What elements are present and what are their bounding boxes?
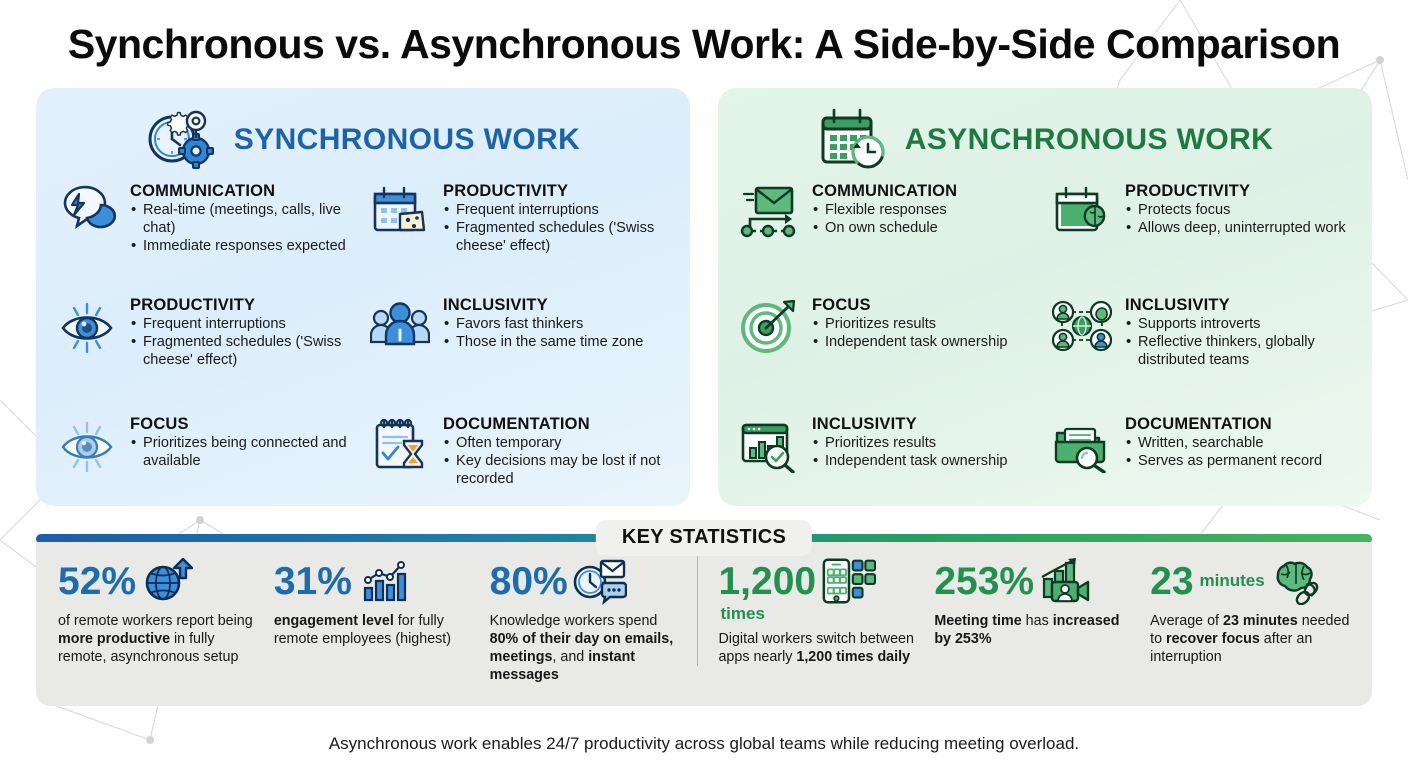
async-column-2: PRODUCTIVITY Protects focus Allows deep,… bbox=[1049, 178, 1354, 520]
chat-bubble-lightning-icon bbox=[54, 178, 120, 244]
brain-chain-icon bbox=[1269, 557, 1325, 605]
statistics-row: 52% of remote workers report being more … bbox=[36, 542, 1372, 706]
item-heading: INCLUSIVITY bbox=[1125, 296, 1354, 315]
stat-description: Meeting time has increased by 253% bbox=[934, 612, 1134, 648]
list-item: INCLUSIVITY Supports introverts Reflecti… bbox=[1049, 292, 1354, 397]
people-group-icon bbox=[367, 292, 433, 358]
footer-caption: Asynchronous work enables 24/7 productiv… bbox=[0, 734, 1408, 754]
item-bullets: Frequent interruptions Fragmented schedu… bbox=[130, 316, 359, 370]
bullet: Immediate responses expected bbox=[130, 238, 359, 256]
page-title: Synchronous vs. Asynchronous Work: A Sid… bbox=[0, 0, 1408, 67]
item-heading: PRODUCTIVITY bbox=[443, 182, 672, 201]
panel-synchronous-header: SYNCHRONOUS WORK bbox=[52, 102, 674, 178]
sync-column-1: COMMUNICATION Real-time (meetings, calls… bbox=[54, 178, 359, 520]
video-chart-rising-icon bbox=[1038, 557, 1094, 605]
panel-asynchronous-header: ASYNCHRONOUS WORK bbox=[734, 102, 1356, 178]
bullet: Prioritizes being connected and availabl… bbox=[130, 435, 359, 471]
stat-description: of remote workers report being more prod… bbox=[58, 612, 258, 666]
bullet: Independent task ownership bbox=[812, 334, 1008, 352]
bullet: Allows deep, uninterrupted work bbox=[1125, 220, 1346, 238]
email-flow-icon bbox=[736, 178, 802, 244]
stat-card: 52% of remote workers report being more … bbox=[50, 556, 266, 666]
globe-arrow-up-icon bbox=[140, 557, 196, 605]
bullet: Reflective thinkers, globally distribute… bbox=[1125, 334, 1354, 370]
list-item: PRODUCTIVITY Protects focus Allows deep,… bbox=[1049, 178, 1354, 278]
stat-number: 1,200 bbox=[718, 562, 816, 601]
item-bullets: Written, searchable Serves as permanent … bbox=[1125, 435, 1322, 471]
comparison-panels: SYNCHRONOUS WORK COMM bbox=[0, 88, 1408, 506]
infographic-page: Synchronous vs. Asynchronous Work: A Sid… bbox=[0, 0, 1408, 768]
network-people-globe-icon bbox=[1049, 292, 1115, 358]
bullet: Key decisions may be lost if not recorde… bbox=[443, 453, 672, 489]
item-heading: DOCUMENTATION bbox=[443, 415, 672, 434]
bullet: Supports introverts bbox=[1125, 316, 1354, 334]
item-bullets: Supports introverts Reflective thinkers,… bbox=[1125, 316, 1354, 370]
clipboard-hourglass-icon bbox=[367, 411, 433, 477]
item-heading: COMMUNICATION bbox=[130, 182, 359, 201]
bullet: Favors fast thinkers bbox=[443, 316, 643, 334]
calendar-clock-icon bbox=[817, 106, 891, 175]
bullet: Real-time (meetings, calls, live chat) bbox=[130, 202, 359, 238]
eye-distracted-icon bbox=[54, 292, 120, 358]
bar-chart-trend-icon bbox=[356, 557, 412, 605]
stat-unit: times bbox=[720, 604, 764, 623]
stat-description: Knowledge workers spend 80% of their day… bbox=[490, 612, 690, 684]
async-column-1: COMMUNICATION Flexible responses On own … bbox=[736, 178, 1041, 520]
stat-card: 253% bbox=[926, 556, 1142, 648]
list-item: PRODUCTIVITY Frequent interruptions Frag… bbox=[54, 292, 359, 397]
list-item: DOCUMENTATION Often temporary Key decisi… bbox=[367, 411, 672, 506]
bullet: Those in the same time zone bbox=[443, 334, 643, 352]
item-heading: INCLUSIVITY bbox=[812, 415, 1008, 434]
item-heading: INCLUSIVITY bbox=[443, 296, 643, 315]
item-bullets: Prioritizes being connected and availabl… bbox=[130, 435, 359, 471]
stat-number: 23 bbox=[1150, 562, 1193, 601]
key-statistics-tab: KEY STATISTICS bbox=[596, 520, 812, 556]
bullet: Frequent interruptions bbox=[443, 202, 672, 220]
stat-description: Digital workers switch between apps near… bbox=[718, 630, 918, 666]
bullet: Flexible responses bbox=[812, 202, 957, 220]
bullet: Serves as permanent record bbox=[1125, 453, 1322, 471]
item-heading: COMMUNICATION bbox=[812, 182, 957, 201]
list-item: FOCUS Prioritizes results Independent ta… bbox=[736, 292, 1041, 397]
stat-card: 23 minutes bbox=[1142, 556, 1358, 666]
bullet: Often temporary bbox=[443, 435, 672, 453]
stat-card: 31% engagement level for f bbox=[266, 556, 482, 648]
sync-column-2: PRODUCTIVITY Frequent interruptions Frag… bbox=[367, 178, 672, 520]
bullet: Prioritizes results bbox=[812, 316, 1008, 334]
clock-gears-icon bbox=[146, 106, 220, 175]
stat-unit: minutes bbox=[1200, 571, 1265, 591]
item-heading: FOCUS bbox=[130, 415, 359, 434]
clock-email-chat-icon bbox=[572, 557, 628, 605]
item-bullets: Prioritizes results Independent task own… bbox=[812, 435, 1008, 471]
panel-asynchronous-title: ASYNCHRONOUS WORK bbox=[905, 123, 1273, 157]
target-arrow-icon bbox=[736, 292, 802, 358]
bullet: Independent task ownership bbox=[812, 453, 1008, 471]
stat-number: 52% bbox=[58, 562, 136, 601]
stat-number: 253% bbox=[934, 562, 1034, 601]
item-heading: PRODUCTIVITY bbox=[1125, 182, 1346, 201]
list-item: COMMUNICATION Real-time (meetings, calls… bbox=[54, 178, 359, 278]
item-bullets: Real-time (meetings, calls, live chat) I… bbox=[130, 202, 359, 256]
bullet: Prioritizes results bbox=[812, 435, 1008, 453]
stat-description: engagement level for fully remote employ… bbox=[274, 612, 474, 648]
item-heading: PRODUCTIVITY bbox=[130, 296, 359, 315]
list-item: INCLUSIVITY Favors fast thinkers Those i… bbox=[367, 292, 672, 397]
bullet: On own schedule bbox=[812, 220, 957, 238]
item-bullets: Flexible responses On own schedule bbox=[812, 202, 957, 238]
list-item: FOCUS Prioritizes being connected and av… bbox=[54, 411, 359, 506]
stat-card: 1,200 bbox=[697, 556, 926, 666]
item-bullets: Favors fast thinkers Those in the same t… bbox=[443, 316, 643, 352]
calendar-brain-icon bbox=[1049, 178, 1115, 244]
bullet: Fragmented schedules ('Swiss cheese' eff… bbox=[130, 334, 359, 370]
item-bullets: Protects focus Allows deep, uninterrupte… bbox=[1125, 202, 1346, 238]
panel-asynchronous: ASYNCHRONOUS WORK bbox=[718, 88, 1372, 506]
chart-magnifier-icon bbox=[736, 411, 802, 477]
panel-synchronous-title: SYNCHRONOUS WORK bbox=[234, 123, 580, 157]
list-item: PRODUCTIVITY Frequent interruptions Frag… bbox=[367, 178, 672, 278]
stat-description: Average of 23 minutes needed to recover … bbox=[1150, 612, 1350, 666]
key-statistics-section: KEY STATISTICS 52% bbox=[36, 534, 1372, 706]
item-bullets: Prioritizes results Independent task own… bbox=[812, 316, 1008, 352]
bullet: Fragmented schedules ('Swiss cheese' eff… bbox=[443, 220, 672, 256]
folder-search-icon bbox=[1049, 411, 1115, 477]
stat-card: 80% Knowledge workers spend 80 bbox=[482, 556, 698, 684]
bullet: Frequent interruptions bbox=[130, 316, 359, 334]
calendar-cheese-icon bbox=[367, 178, 433, 244]
item-bullets: Often temporary Key decisions may be los… bbox=[443, 435, 672, 489]
list-item: INCLUSIVITY Prioritizes results Independ… bbox=[736, 411, 1041, 506]
eye-focus-icon bbox=[54, 411, 120, 477]
panel-synchronous: SYNCHRONOUS WORK COMM bbox=[36, 88, 690, 506]
list-item: DOCUMENTATION Written, searchable Serves… bbox=[1049, 411, 1354, 506]
stat-number: 80% bbox=[490, 562, 568, 601]
item-heading: DOCUMENTATION bbox=[1125, 415, 1322, 434]
stat-number: 31% bbox=[274, 562, 352, 601]
item-bullets: Frequent interruptions Fragmented schedu… bbox=[443, 202, 672, 256]
item-heading: FOCUS bbox=[812, 296, 1008, 315]
list-item: COMMUNICATION Flexible responses On own … bbox=[736, 178, 1041, 278]
phone-apps-icon bbox=[820, 557, 876, 605]
bullet: Written, searchable bbox=[1125, 435, 1322, 453]
bullet: Protects focus bbox=[1125, 202, 1346, 220]
